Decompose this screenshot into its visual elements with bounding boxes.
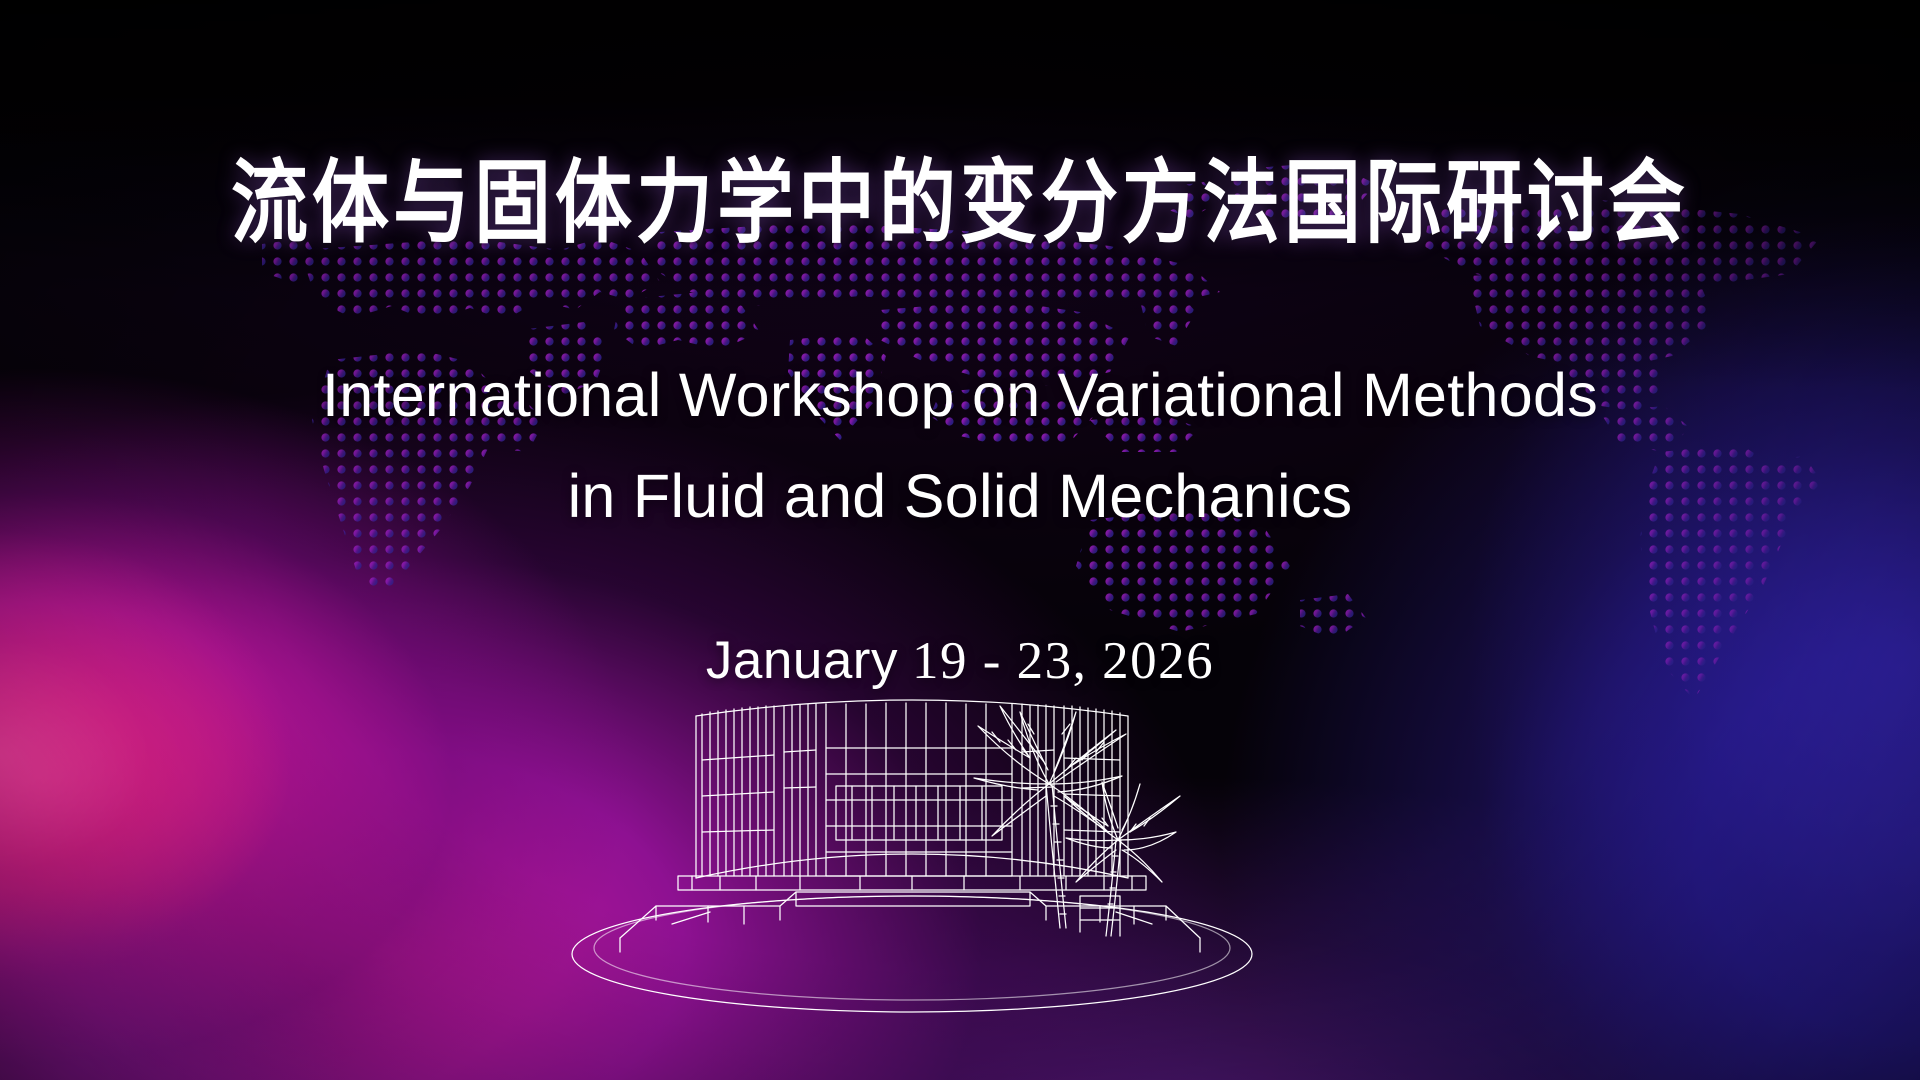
- event-date: January19 - 23, 2026: [0, 630, 1920, 691]
- venue-illustration: [560, 700, 1320, 1030]
- title-english-line-1: International Workshop on Variational Me…: [0, 345, 1920, 446]
- conference-center-line-art: [678, 700, 1146, 890]
- event-date-month: January: [706, 631, 898, 690]
- page-title-chinese: 流体与固体力学中的变分方法国际研讨会: [0, 130, 1920, 261]
- palm-trees-line-art: [974, 706, 1180, 936]
- conference-poster: 流体与固体力学中的变分方法国际研讨会 International Worksho…: [0, 0, 1920, 1080]
- circular-platform-line-art: [572, 892, 1252, 1012]
- page-title-english: International Workshop on Variational Me…: [0, 345, 1920, 547]
- title-english-line-2: in Fluid and Solid Mechanics: [0, 446, 1920, 547]
- event-date-range: 19 - 23, 2026: [912, 632, 1214, 690]
